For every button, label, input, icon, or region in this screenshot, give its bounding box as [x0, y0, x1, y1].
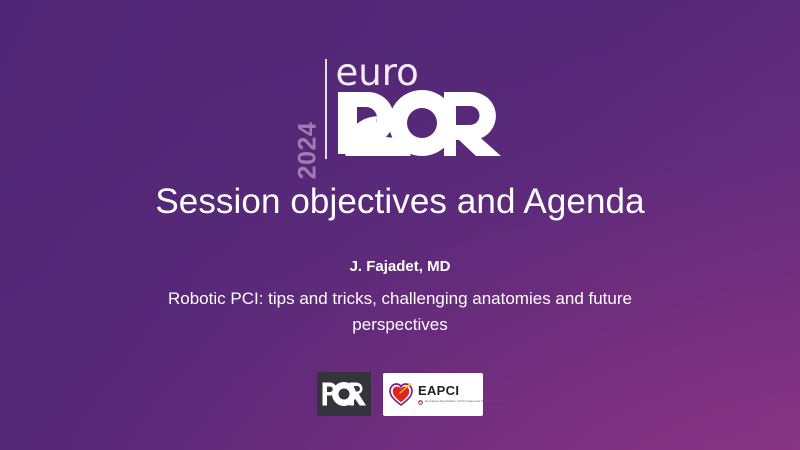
speaker-name: J. Fajadet, MD [0, 258, 800, 275]
slide-title: Session objectives and Agenda [0, 182, 800, 222]
europcr-logo: 2024 euro [0, 57, 800, 163]
session-subtitle: Robotic PCI: tips and tricks, challengin… [120, 286, 680, 338]
logo-pcr-wordmark [336, 90, 508, 156]
eapci-logo: EAPCI European Association of Percutaneo… [383, 373, 483, 416]
logo-divider-rule [325, 59, 327, 159]
eapci-name-label: EAPCI [418, 384, 522, 397]
logo-euro-label: euro [336, 54, 508, 92]
heart-icon [389, 383, 413, 406]
logo-year-label: 2024 [295, 122, 320, 180]
logo-year: 2024 [293, 57, 323, 163]
eapci-tagline: European Association of Percutaneous Car… [425, 400, 522, 403]
esc-mark-icon [418, 400, 423, 405]
presentation-slide: 2024 euro [0, 0, 800, 450]
pcr-logo [317, 372, 371, 416]
footer-logo-row: EAPCI European Association of Percutaneo… [0, 372, 800, 416]
